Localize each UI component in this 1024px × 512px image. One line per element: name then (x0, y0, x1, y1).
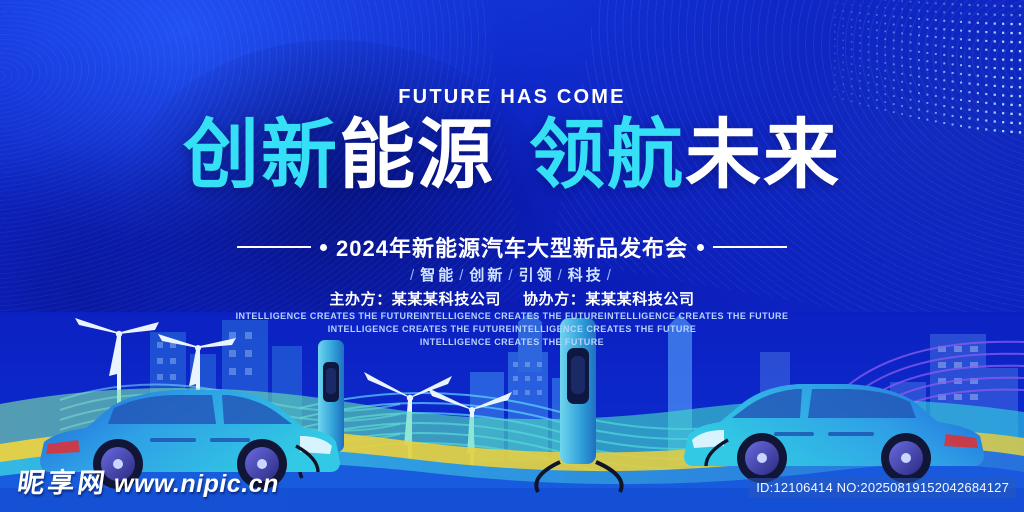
rule-right (713, 246, 787, 248)
dot-right (697, 244, 704, 251)
poster-canvas: FUTURE HAS COME 创新能源领航未来 2024年新能源汽车大型新品发… (0, 0, 1024, 512)
english-tagline-line: INTELLIGENCE CREATES THE FUTUREINTELLIGE… (0, 310, 1024, 323)
rule-left (237, 246, 311, 248)
watermark-site-name: 昵享网 (15, 461, 110, 500)
keyword-item: 科技 (568, 267, 604, 284)
keyword-item: 智能 (420, 267, 456, 284)
headline-part-4: 未来 (685, 113, 841, 198)
host-label: 主办方： (329, 291, 391, 308)
keyword-separator: / (558, 267, 565, 284)
sponsors-row: 主办方：某某某科技公司协办方：某某某科技公司 (0, 288, 1024, 309)
english-tagline-line: INTELLIGENCE CREATES THE FUTUREINTELLIGE… (0, 323, 1024, 336)
page-title: 创新能源领航未来 (0, 118, 1024, 194)
keyword-separator: / (508, 267, 515, 284)
keyword-item: 引领 (519, 267, 555, 284)
image-id-text: ID:12106414 NO:20250819152042684127 (749, 478, 1016, 498)
watermark: 昵享网 www.nipic.cn (18, 461, 279, 500)
cohost-label: 协办方： (523, 291, 585, 308)
english-tagline-block: INTELLIGENCE CREATES THE FUTUREINTELLIGE… (0, 310, 1024, 349)
headline-part-2: 能源 (339, 113, 495, 198)
event-subtitle: 2024年新能源汽车大型新品发布会 (336, 231, 688, 263)
keyword-separator: / (459, 267, 466, 284)
keyword-separator: / (410, 267, 417, 284)
eyebrow-text: FUTURE HAS COME (0, 86, 1024, 109)
headline-part-3: 领航 (529, 113, 685, 198)
english-tagline-line: INTELLIGENCE CREATES THE FUTURE (0, 336, 1024, 349)
host-name: 某某某科技公司 (392, 291, 501, 308)
keywords-row: /智能/创新/引领/科技/ (0, 264, 1024, 285)
cohost-name: 某某某科技公司 (585, 291, 694, 308)
subtitle-row: 2024年新能源汽车大型新品发布会 (0, 231, 1024, 263)
watermark-site-url: www.nipic.cn (114, 470, 279, 499)
headline-part-1: 创新 (183, 113, 339, 198)
dot-left (320, 244, 327, 251)
keyword-separator: / (607, 267, 614, 284)
keyword-item: 创新 (469, 267, 505, 284)
